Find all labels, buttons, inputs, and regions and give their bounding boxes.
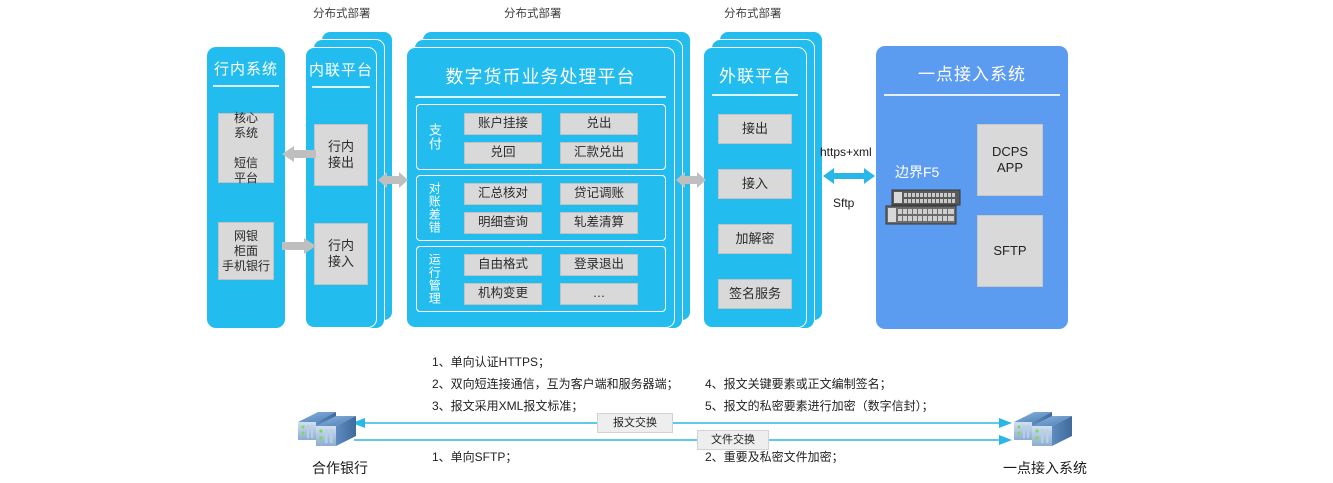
bottom-node-left-label: 合作银行 [285,458,395,478]
arrow-intranet-dcep [378,172,408,188]
annotation-left-2: 2、双向短连接通信，互为客户端和服务器端； [432,375,679,392]
intranet-cell-in[interactable]: 行内 接入 [314,223,368,285]
dcep-cell-operations-3[interactable]: … [560,283,638,305]
link-protocol-label: https+xml [820,145,872,159]
access-system-title: 一点接入系统 [876,60,1068,85]
arrow-intranet-to-channels [282,238,316,254]
annotation-left-3: 3、报文采用XML报文标准； [432,397,583,414]
access-box-dcps-app[interactable]: DCPS APP [977,124,1043,196]
arrow-core-to-intranet [282,146,316,162]
internal-system-title: 行内系统 [207,58,285,79]
line-file-exchange [352,433,1012,447]
line-message-exchange [352,416,1012,430]
internal-cell-channels[interactable]: 网银 柜面 手机银行 [218,222,274,280]
external-cell-1[interactable]: 接入 [718,169,792,199]
dcep-cell-reconciliation-0[interactable]: 汇总核对 [464,183,542,205]
arrow-dcep-external [676,172,706,188]
bottom-node-right-label: 一点接入系统 [985,458,1105,478]
dcep-cell-operations-2[interactable]: 机构变更 [464,283,542,305]
architecture-diagram: 分布式部署 分布式部署 分布式部署 行内系统 核心 系统 短信 平台 网银 柜面… [0,0,1333,483]
internal-cell-core[interactable]: 核心 系统 短信 平台 [218,113,274,183]
intranet-platform-title: 内联平台 [306,59,376,80]
dcep-group-payment-label: 支付 [424,110,444,164]
external-cell-2[interactable]: 加解密 [718,224,792,254]
deploy-label-external: 分布式部署 [724,5,782,21]
intranet-cell-out[interactable]: 行内 接出 [314,124,368,186]
dcep-cell-operations-1[interactable]: 登录退出 [560,254,638,276]
dcep-cell-reconciliation-1[interactable]: 贷记调账 [560,183,638,205]
annotation-bottom-left-1: 1、单向SFTP； [432,448,517,465]
annotation-left-1: 1、单向认证HTTPS； [432,353,550,370]
access-system-title-rule [884,94,1060,96]
intranet-platform-title-rule [312,86,370,88]
deploy-label-intranet: 分布式部署 [313,5,371,21]
exchange-label-file: 文件交换 [697,430,769,450]
access-system-server-icon [1008,404,1074,452]
dcep-cell-payment-1[interactable]: 兑出 [560,113,638,135]
deploy-label-dcep: 分布式部署 [504,5,562,21]
dcep-group-reconciliation-label: 对账差错 [424,178,444,238]
panel-internal-system: 行内系统 [207,47,285,328]
dcep-cell-reconciliation-2[interactable]: 明细查询 [464,212,542,234]
internal-system-title-rule [213,85,279,87]
external-cell-0[interactable]: 接出 [718,114,792,144]
dcep-cell-payment-0[interactable]: 账户挂接 [464,113,542,135]
link-transport-label: Sftp [833,196,854,210]
external-platform-title-rule [712,94,798,96]
dcep-group-operations-label: 运行管理 [424,249,444,309]
f5-label: 边界F5 [895,162,939,182]
exchange-label-message: 报文交换 [597,413,673,433]
dcep-platform-title-rule [415,96,666,98]
arrow-external-access [823,167,875,185]
dcep-cell-operations-0[interactable]: 自由格式 [464,254,542,276]
annotation-right-5: 5、报文的私密要素进行加密（数字信封）； [705,397,934,414]
dcep-cell-payment-2[interactable]: 兑回 [464,142,542,164]
annotation-bottom-right-2: 2、重要及私密文件加密； [705,448,844,465]
external-cell-3[interactable]: 签名服务 [718,279,792,309]
annotation-right-4: 4、报文关键要素或正文编制签名； [705,375,892,392]
f5-appliance-icon [884,188,964,228]
partner-bank-server-icon [292,404,358,452]
external-platform-title: 外联平台 [704,62,806,87]
dcep-cell-reconciliation-3[interactable]: 轧差清算 [560,212,638,234]
access-box-sftp[interactable]: SFTP [977,215,1043,287]
dcep-platform-title: 数字货币业务处理平台 [407,63,674,89]
panel-intranet-platform: 内联平台 [305,47,377,328]
dcep-cell-payment-3[interactable]: 汇款兑出 [560,142,638,164]
